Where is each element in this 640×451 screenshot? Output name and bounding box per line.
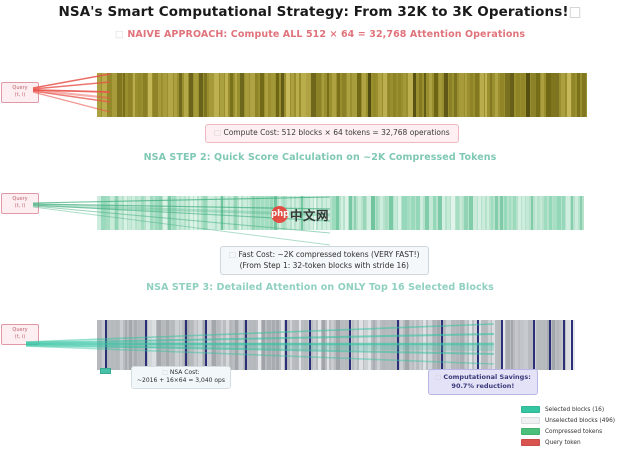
token-block [306,73,311,117]
token-block [580,196,582,230]
query-index: (t, i) [5,92,35,99]
token-bar-naive [97,73,587,117]
token-block [437,320,440,370]
watermark-logo: php [271,206,288,223]
token-block [299,320,301,370]
token-block [331,320,334,370]
target-icon: □ [435,373,441,381]
token-block [332,196,336,230]
selected-block-marker [477,320,479,370]
watermark-text: 中文网 [290,205,329,224]
token-block [400,320,402,370]
token-block [97,196,101,230]
token-block [194,196,197,230]
callout-nsa-cost: □ NSA Cost: ~2016 + 16×64 = 3,040 ops [131,366,231,389]
token-block [347,73,350,117]
token-block [166,320,169,370]
token-block [337,73,340,117]
token-block [281,73,284,117]
token-block [380,196,383,230]
token-bar-selection [97,320,575,370]
token-block [189,73,193,117]
token-block [146,196,150,230]
section-heading-step3-label: NSA STEP 3: Detailed Attention on ONLY T… [146,282,494,293]
token-block [419,320,422,370]
legend-item: Compressed tokens [521,426,615,437]
token-block [174,73,178,117]
token-block [225,196,228,230]
selected-block-marker [501,320,503,370]
token-block [378,73,382,117]
token-block [495,73,498,117]
token-block [500,196,503,230]
token-block [180,320,183,370]
legend-item: Unselected blocks (496) [521,415,615,426]
token-block [316,73,320,117]
token-block [159,196,162,230]
token-block [561,73,564,117]
token-block [129,320,132,370]
query-label: Query [12,196,27,202]
token-block [199,73,203,117]
token-block [352,73,356,117]
token-block [387,320,390,370]
token-block [336,196,339,230]
token-block [249,320,252,370]
token-block [119,196,122,230]
token-block [531,196,534,230]
selected-block-marker [563,320,565,370]
token-block [566,320,570,370]
token-block [403,73,406,117]
callout-fast-cost-line1-wrap: □ Fast Cost: ~2K compressed tokens (VERY… [229,250,420,261]
token-block [511,320,514,370]
token-block [433,320,436,370]
token-block [128,196,131,230]
token-block [276,73,279,117]
token-block [391,320,395,370]
callout-compute-cost-naive-text: Compute Cost: 512 blocks × 64 tokens = 3… [223,128,449,137]
token-block [267,320,271,370]
token-block [186,196,189,230]
token-block [255,73,257,117]
token-block [163,196,166,230]
token-block [529,320,532,370]
token-block [480,73,484,117]
token-block [230,73,233,117]
token-block [272,320,275,370]
token-block [295,320,299,370]
token-block [487,196,489,230]
watermark: php 中文网 [271,205,329,224]
token-block [157,320,161,370]
token-block [225,73,228,117]
token-block [490,73,492,117]
token-block [456,320,460,370]
token-block [190,196,193,230]
token-block [141,196,144,230]
token-block [354,196,356,230]
token-block [226,320,229,370]
token-block [207,320,210,370]
token-block [509,196,511,230]
token-block [505,73,509,117]
token-block [148,73,152,117]
token-block [357,73,361,117]
token-block [368,73,372,117]
token-block [341,196,344,230]
token-block [304,320,308,370]
token-block [194,73,198,117]
token-block [143,73,147,117]
token-block [504,196,507,230]
token-block [97,73,101,117]
token-block [189,320,193,370]
token-block [524,320,528,370]
token-block [124,196,127,230]
callout-fast-cost-step2: □ Fast Cost: ~2K compressed tokens (VERY… [220,246,429,275]
legend-label: Unselected blocks (496) [545,418,615,424]
token-block [322,73,325,117]
token-block [515,320,517,370]
legend-label: Selected blocks (16) [545,407,604,413]
token-block [221,320,223,370]
query-label: Query [12,85,27,91]
token-block [212,196,215,230]
selected-block-marker [397,320,399,370]
token-blocks-naive [97,73,587,117]
token-block [439,73,442,117]
token-block [239,196,242,230]
legend-item: Selected blocks (16) [521,404,615,415]
token-block [363,196,366,230]
token-block [444,73,448,117]
token-block [552,320,555,370]
token-block [410,320,412,370]
legend-swatch [521,428,540,435]
token-block [414,320,416,370]
token-block [541,73,544,117]
token-block [291,73,294,117]
query-label: Query [12,327,27,333]
token-block [376,196,379,230]
token-block [230,196,233,230]
token-block [536,73,540,117]
token-block [382,320,386,370]
token-block [416,196,420,230]
token-block [506,320,510,370]
token-block [464,196,468,230]
cross-mark-icon: □ [115,29,124,40]
token-block [342,73,346,117]
selected-block-marker [349,320,351,370]
token-block [454,73,457,117]
token-block [220,73,225,117]
token-block [171,320,175,370]
token-block [265,73,268,117]
token-block [102,73,107,117]
token-block [262,320,265,370]
token-block [571,196,574,230]
token-block [451,196,454,230]
token-block [483,320,487,370]
token-block [138,73,141,117]
token-block [161,320,165,370]
token-block [478,196,481,230]
token-block [405,320,409,370]
token-block [168,196,171,230]
token-block [111,320,114,370]
token-block [217,196,221,230]
token-block [526,73,531,117]
selected-block-marker [145,320,147,370]
token-block [214,73,218,117]
section-heading-step2-label: NSA STEP 2: Quick Score Calculation on ~… [144,152,497,163]
page-title-text: NSA's Smart Computational Strategy: From… [59,4,569,20]
token-block [128,73,133,117]
token-block [495,196,497,230]
token-block [535,196,537,230]
token-blocks-compressed [97,196,584,230]
callout-fast-cost-line1: Fast Cost: ~2K compressed tokens (VERY F… [238,250,419,259]
legend-swatch [521,406,540,413]
token-block [358,196,361,230]
token-block [393,73,396,117]
token-block [311,73,316,117]
token-block [158,73,160,117]
token-block [120,320,123,370]
token-block [546,73,551,117]
token-block [371,196,375,230]
token-block [179,73,183,117]
token-block [575,196,577,230]
token-block [520,320,524,370]
token-block [117,73,122,117]
token-block [433,196,435,230]
token-block [286,73,291,117]
token-block [184,73,188,117]
token-block [359,320,363,370]
token-block [134,320,138,370]
token-block [322,320,325,370]
token-block [398,196,401,230]
token-block [112,73,117,117]
token-block [172,196,176,230]
token-block [362,73,365,117]
token-block [97,320,101,370]
token-block [482,196,485,230]
token-block [281,320,284,370]
token-block [364,320,368,370]
token-block [469,196,473,230]
query-token-badge-step2: Query (t, i) [1,193,39,214]
token-block [510,73,514,117]
selected-block-marker [205,320,207,370]
page-title: NSA's Smart Computational Strategy: From… [0,4,640,20]
token-block [198,320,201,370]
callout-compute-cost-naive: □ Compute Cost: 512 blocks × 64 tokens =… [205,124,459,143]
title-emoji-glyph: □ [569,4,582,20]
token-block [465,73,468,117]
token-block [373,73,376,117]
token-block [336,320,340,370]
token-block [556,73,559,117]
token-block [152,320,155,370]
token-block [248,196,251,230]
selected-block-marker [309,320,311,370]
token-block [221,196,224,230]
token-block [137,196,141,230]
token-block [245,73,249,117]
selected-block-tag [100,368,111,374]
token-block [234,196,237,230]
token-block [138,320,140,370]
token-block [577,73,581,117]
token-block [557,196,561,230]
token-block [562,196,565,230]
token-block [301,73,306,117]
token-block [177,196,179,230]
token-block [345,196,348,230]
token-block [582,73,586,117]
token-block [327,73,329,117]
token-block [460,196,462,230]
token-block [442,196,445,230]
token-block [367,196,371,230]
token-block [460,320,464,370]
token-block [212,320,216,370]
token-block [544,196,547,230]
token-block [413,73,415,117]
callout-nsa-cost-line1: NSA Cost: [170,369,200,376]
legend-item: Query token [521,437,615,448]
token-block [377,320,379,370]
token-block [449,73,451,117]
token-block [567,73,571,117]
token-block [252,196,255,230]
token-block [394,196,398,230]
query-index: (t, i) [5,203,35,210]
callout-nsa-cost-line2: ~2016 + 16×64 = 3,040 ops [137,377,225,385]
token-blocks-selection [97,320,575,370]
token-block [521,73,525,117]
token-block [230,320,232,370]
token-block [290,320,292,370]
savings-line1: Computational Savings: [443,373,530,381]
token-block [469,320,472,370]
token-block [475,73,479,117]
token-block [513,196,515,230]
query-token-badge-step3: Query (t, i) [1,324,39,345]
token-block [407,196,410,230]
token-block [163,73,167,117]
token-block [341,320,343,370]
token-block [258,320,261,370]
token-block [428,320,432,370]
token-block [551,73,555,117]
token-block [153,73,157,117]
token-block [204,73,207,117]
legend-swatch [521,439,540,446]
token-block [434,73,438,117]
section-heading-naive-label: NAIVE APPROACH: Compute ALL 512 × 64 = 3… [127,29,525,40]
selected-block-marker [285,320,287,370]
token-block [451,320,455,370]
savings-line1-wrap: □ Computational Savings: [435,373,531,382]
token-block [540,196,543,230]
token-block [488,320,492,370]
token-block [276,320,278,370]
token-block [470,73,474,117]
section-heading-naive: □ NAIVE APPROACH: Compute ALL 512 × 64 =… [0,29,640,40]
token-block [253,320,256,370]
token-block [491,196,493,230]
legend-label: Query token [545,440,581,446]
token-block [526,196,528,230]
token-block [354,320,356,370]
callout-fast-cost-line2: (From Step 1: 32-token blocks with strid… [229,261,420,272]
selected-block-marker [549,320,551,370]
token-block [389,196,392,230]
token-block [368,320,370,370]
selected-block-marker [441,320,443,370]
token-block [572,73,575,117]
callout-computational-savings: □ Computational Savings: 90.7% reduction… [428,369,538,395]
token-block [408,73,412,117]
token-block [383,73,387,117]
token-block [209,73,213,117]
legend-label: Compressed tokens [545,429,602,435]
token-block [332,73,336,117]
diagram-canvas: NSA's Smart Computational Strategy: From… [0,0,640,451]
check-mark-icon: □ [162,369,168,376]
token-block [168,73,172,117]
token-block [265,196,269,230]
selected-block-marker [245,320,247,370]
token-block [385,196,389,230]
token-block [271,73,275,117]
token-block [115,196,118,230]
token-block [388,73,390,117]
token-block [518,196,521,230]
token-block [235,73,237,117]
legend: Selected blocks (16)Unselected blocks (4… [521,404,615,448]
token-block [349,196,351,230]
token-block [485,73,488,117]
token-block [373,320,375,370]
selected-block-marker [571,320,573,370]
token-block [115,320,118,370]
token-block [239,320,243,370]
token-block [133,73,135,117]
token-block [235,320,238,370]
token-block [500,73,504,117]
section-heading-step2: NSA STEP 2: Quick Score Calculation on ~… [0,152,640,163]
legend-swatch [521,417,540,424]
selected-block-marker [185,320,187,370]
token-block [456,196,459,230]
token-block [557,320,559,370]
token-block [296,73,299,117]
token-block [203,196,207,230]
token-block [181,196,184,230]
token-block [199,196,202,230]
token-block [420,196,423,230]
token-block [522,196,525,230]
token-block [261,196,264,230]
token-block [260,73,263,117]
token-block [459,73,464,117]
